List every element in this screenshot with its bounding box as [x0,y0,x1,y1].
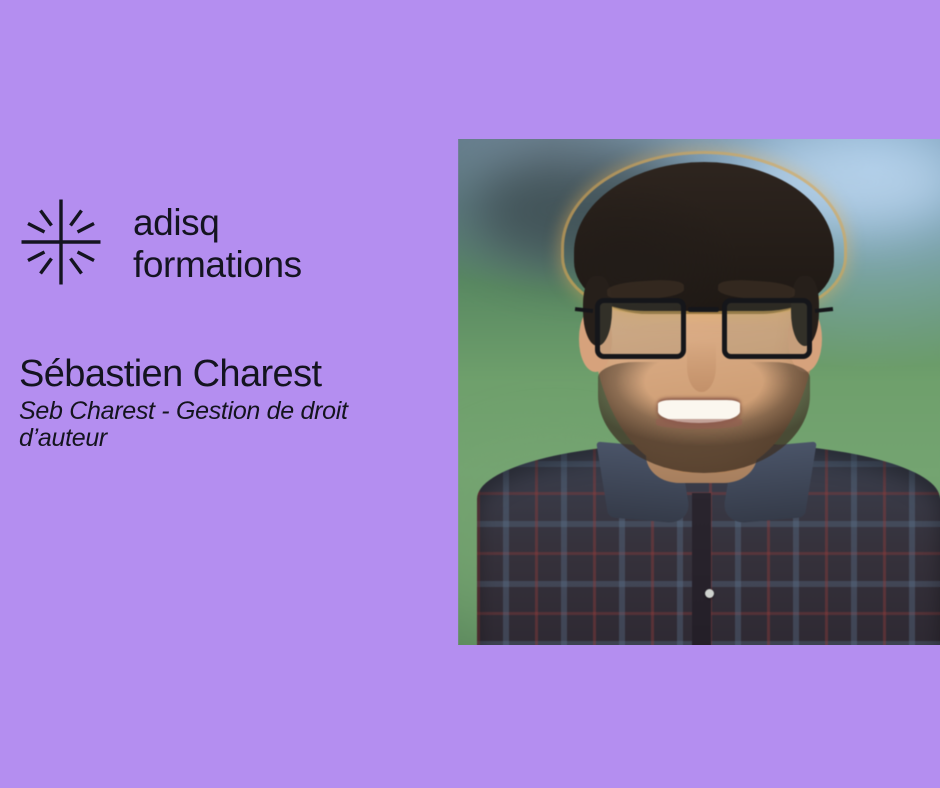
adisq-burst-mark-icon [20,198,102,286]
glasses-bridge [688,307,719,312]
glasses-lens-right [722,298,813,359]
glasses-temple-right [815,307,833,313]
speaker-announcement-slide: adisq formations Sébastien Charest Seb C… [0,0,940,788]
brand-wordmark-line-1: adisq [133,202,302,244]
left-content-column: adisq formations Sébastien Charest Seb C… [0,0,458,788]
brand-wordmark-line-2: formations [133,244,302,286]
speaker-name: Sébastien Charest [19,352,439,396]
speaker-portrait-photo [458,139,940,645]
glasses-temple-left [575,307,593,313]
speaker-role: Seb Charest - Gestion de droit d’auteur [19,398,411,452]
speaker-info-block: Sébastien Charest Seb Charest - Gestion … [19,352,439,452]
brand-wordmark: adisq formations [133,202,302,286]
portrait-subject [458,139,940,645]
brand-lockup: adisq formations [20,198,302,286]
shirt-placket [692,493,711,645]
glasses-lens-left [595,298,686,359]
